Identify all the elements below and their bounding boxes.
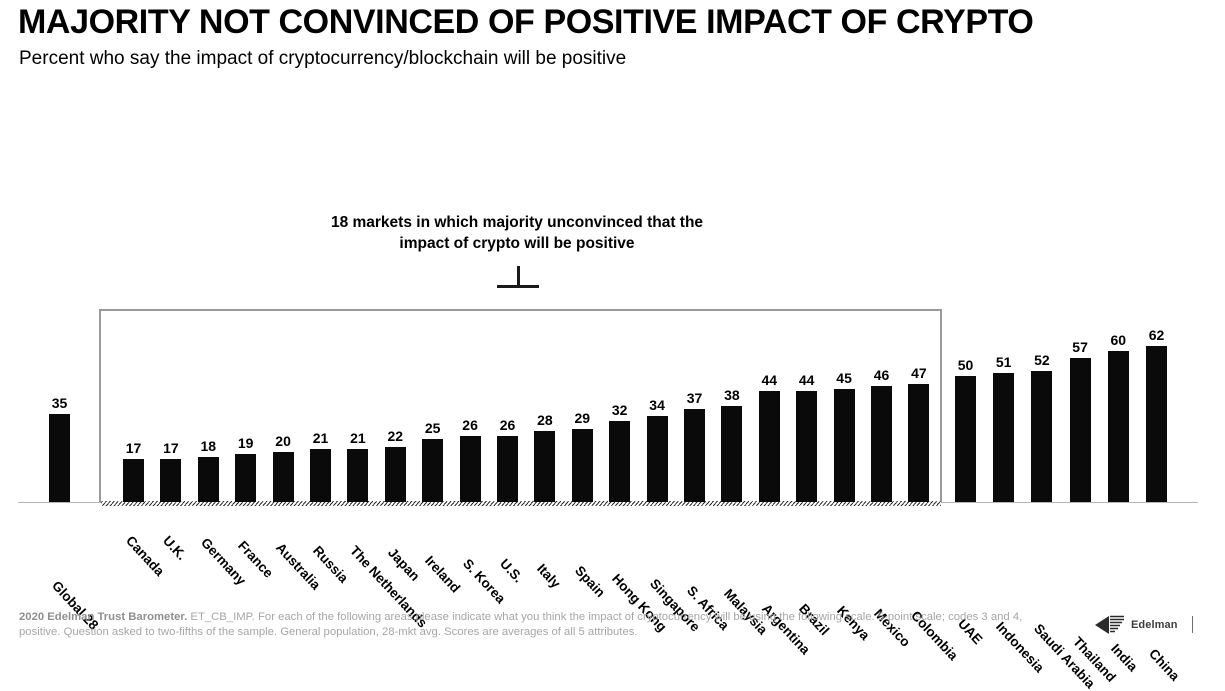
bar[interactable]	[385, 447, 406, 502]
bar-value-label: 32	[599, 402, 640, 418]
bar[interactable]	[534, 431, 555, 502]
x-axis-category-label: Ireland	[422, 553, 463, 596]
bar[interactable]	[273, 452, 294, 502]
bar-value-label: 45	[824, 370, 865, 386]
bar[interactable]	[460, 436, 481, 502]
bar[interactable]	[1031, 371, 1052, 502]
bar-value-label: 18	[188, 438, 229, 454]
bar[interactable]	[647, 416, 668, 502]
bar[interactable]	[834, 389, 855, 502]
edelman-logo: Edelman	[1093, 612, 1203, 638]
bar-value-label: 62	[1136, 327, 1177, 343]
bar[interactable]	[310, 449, 331, 502]
bar[interactable]	[684, 409, 705, 502]
bar[interactable]	[955, 376, 976, 502]
edelman-wordmark: Edelman	[1131, 619, 1178, 631]
bar-value-label: 51	[983, 354, 1024, 370]
edelman-mark-icon	[1093, 614, 1127, 636]
chart-plot-area: 35Global 2817Canada17U.K.18Germany19Fran…	[0, 0, 1225, 649]
bar-value-label: 17	[150, 440, 191, 456]
bar-value-label: 21	[300, 430, 341, 446]
bar-value-label: 28	[524, 412, 565, 428]
bar[interactable]	[497, 436, 518, 502]
bar-value-label: 46	[861, 367, 902, 383]
bar[interactable]	[347, 449, 368, 502]
source-label: 2020 Edelman Trust Barometer.	[19, 611, 187, 623]
bar-value-label: 47	[898, 365, 939, 381]
bar-value-label: 25	[412, 420, 453, 436]
bar[interactable]	[1070, 358, 1091, 502]
bar-value-label: 60	[1098, 332, 1139, 348]
bar-value-label: 37	[674, 390, 715, 406]
bar[interactable]	[871, 386, 892, 502]
bar-value-label: 20	[263, 433, 304, 449]
bar[interactable]	[796, 391, 817, 502]
x-axis-category-label: Italy	[534, 561, 563, 591]
bar[interactable]	[572, 429, 593, 502]
bar-value-label: 44	[786, 372, 827, 388]
bar-value-label: 21	[337, 430, 378, 446]
bar[interactable]	[235, 454, 256, 502]
bar-value-label: 57	[1060, 339, 1101, 355]
bar-value-label: 34	[637, 397, 678, 413]
bar-value-label: 26	[450, 417, 491, 433]
bar-value-label: 26	[487, 417, 528, 433]
source-footnote: 2020 Edelman Trust Barometer. ET_CB_IMP.…	[19, 610, 1064, 640]
x-axis-category-label: Canada	[123, 533, 167, 579]
bar[interactable]	[1146, 346, 1167, 502]
bar-value-label: 35	[39, 395, 80, 411]
x-axis-category-label: U.K.	[160, 533, 189, 563]
bar[interactable]	[1108, 351, 1129, 502]
bar[interactable]	[993, 373, 1014, 502]
bar[interactable]	[123, 459, 144, 502]
bar-value-label: 17	[113, 440, 154, 456]
bar[interactable]	[49, 414, 70, 502]
bar[interactable]	[160, 459, 181, 502]
x-axis-category-label: China	[1146, 646, 1183, 684]
bar[interactable]	[721, 406, 742, 502]
bar-value-label: 52	[1021, 352, 1062, 368]
x-axis-category-label: U.S.	[497, 556, 526, 585]
bar-value-label: 19	[225, 435, 266, 451]
bar-value-label: 44	[749, 372, 790, 388]
x-axis-category-label: Spain	[572, 563, 608, 600]
bar[interactable]	[759, 391, 780, 502]
bar[interactable]	[422, 439, 443, 502]
bar[interactable]	[198, 457, 219, 502]
bar-value-label: 22	[375, 428, 416, 444]
logo-divider	[1192, 616, 1193, 633]
bar[interactable]	[908, 384, 929, 502]
bar-value-label: 50	[945, 357, 986, 373]
bar-value-label: 38	[711, 387, 752, 403]
bar-value-label: 29	[562, 410, 603, 426]
bar[interactable]	[609, 421, 630, 502]
